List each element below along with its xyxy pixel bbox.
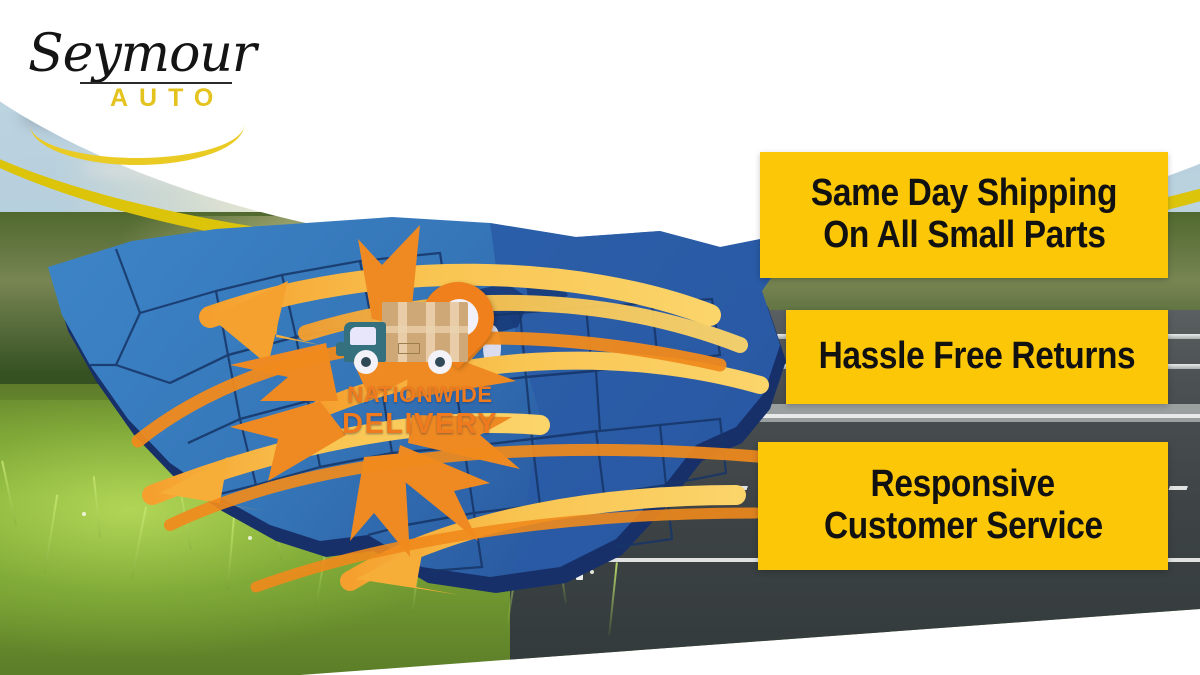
logo-subtext: AUTO [110,84,224,113]
feature-line: Customer Service [824,506,1103,548]
seymour-auto-logo[interactable]: Seymour AUTO [22,18,252,128]
nationwide-text: NATIONWIDE [330,384,510,406]
delivery-truck-icon [336,302,476,384]
feature-line: On All Small Parts [823,215,1105,257]
feature-box-responsive-customer-service: Responsive Customer Service [758,442,1168,570]
promo-banner: NATIONWIDE DELIVERY Seymour AUTO Same Da… [0,0,1200,675]
feature-line: Same Day Shipping [811,173,1117,215]
feature-line: Hassle Free Returns [819,336,1136,378]
logo-wordmark: Seymour [28,24,256,84]
feature-line: Responsive [871,464,1055,506]
nationwide-delivery-badge: NATIONWIDE DELIVERY [330,280,510,450]
feature-box-hassle-free-returns: Hassle Free Returns [786,310,1168,404]
delivery-text: DELIVERY [330,410,510,439]
feature-box-same-day-shipping: Same Day Shipping On All Small Parts [760,152,1168,278]
nationwide-delivery-label: NATIONWIDE DELIVERY [330,384,510,439]
